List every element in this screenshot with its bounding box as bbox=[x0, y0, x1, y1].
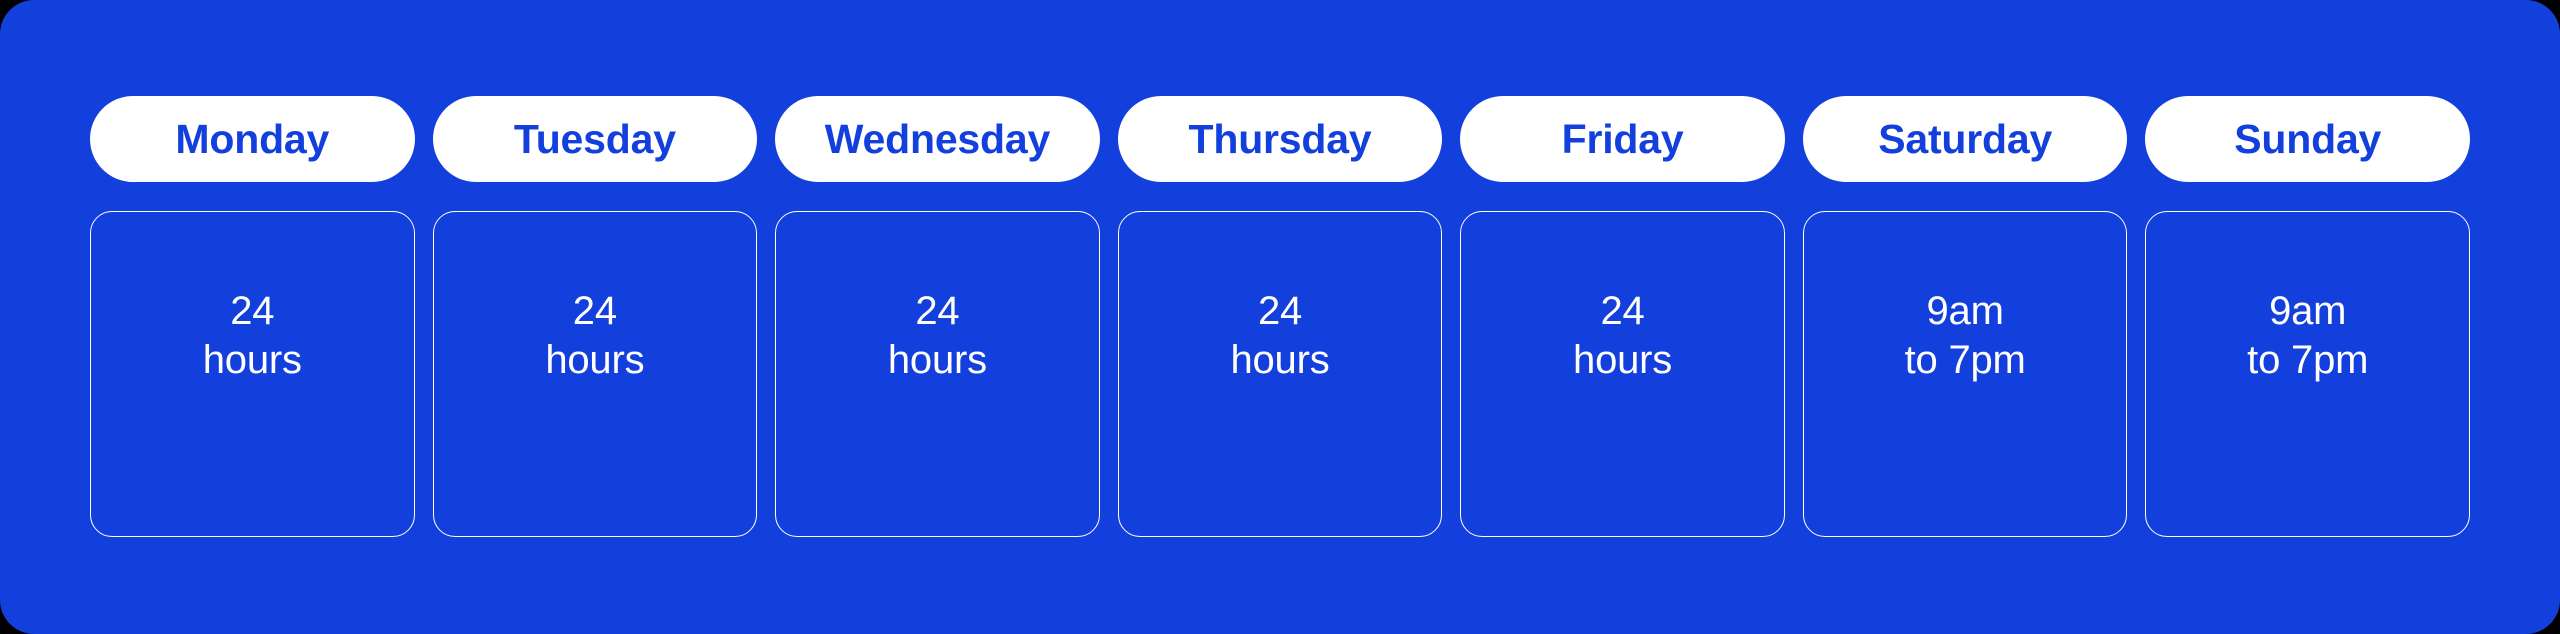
hours-line-secondary: hours bbox=[888, 336, 987, 385]
week-grid: Monday 24 hours Tuesday 24 hours Wednesd… bbox=[90, 96, 2470, 537]
day-column-monday: Monday 24 hours bbox=[90, 96, 415, 537]
hours-line-primary: 24 bbox=[1258, 287, 1302, 336]
day-name-label: Sunday bbox=[2234, 119, 2381, 160]
day-name-label: Monday bbox=[175, 119, 329, 160]
hours-line-primary: 24 bbox=[915, 287, 959, 336]
hours-card-wednesday: 24 hours bbox=[775, 211, 1100, 537]
hours-card-saturday: 9am to 7pm bbox=[1803, 211, 2128, 537]
day-pill-sunday[interactable]: Sunday bbox=[2145, 96, 2470, 182]
hours-line-secondary: hours bbox=[203, 336, 302, 385]
day-pill-monday[interactable]: Monday bbox=[90, 96, 415, 182]
hours-card-friday: 24 hours bbox=[1460, 211, 1785, 537]
day-column-thursday: Thursday 24 hours bbox=[1118, 96, 1443, 537]
day-name-label: Friday bbox=[1562, 119, 1684, 160]
hours-card-monday: 24 hours bbox=[90, 211, 415, 537]
day-pill-wednesday[interactable]: Wednesday bbox=[775, 96, 1100, 182]
hours-line-primary: 24 bbox=[1601, 287, 1645, 336]
day-column-wednesday: Wednesday 24 hours bbox=[775, 96, 1100, 537]
hours-card-sunday: 9am to 7pm bbox=[2145, 211, 2470, 537]
day-column-sunday: Sunday 9am to 7pm bbox=[2145, 96, 2470, 537]
day-name-label: Wednesday bbox=[825, 119, 1050, 160]
hours-line-primary: 24 bbox=[573, 287, 617, 336]
hours-line-primary: 9am bbox=[1927, 287, 2004, 336]
hours-card-tuesday: 24 hours bbox=[433, 211, 758, 537]
day-name-label: Tuesday bbox=[514, 119, 676, 160]
weekly-hours-panel: Monday 24 hours Tuesday 24 hours Wednesd… bbox=[0, 0, 2560, 634]
day-pill-saturday[interactable]: Saturday bbox=[1803, 96, 2128, 182]
hours-line-secondary: to 7pm bbox=[2247, 336, 2368, 385]
day-pill-friday[interactable]: Friday bbox=[1460, 96, 1785, 182]
hours-line-secondary: hours bbox=[1230, 336, 1329, 385]
day-name-label: Saturday bbox=[1878, 119, 2052, 160]
hours-line-primary: 24 bbox=[230, 287, 274, 336]
day-column-friday: Friday 24 hours bbox=[1460, 96, 1785, 537]
hours-line-secondary: hours bbox=[545, 336, 644, 385]
day-name-label: Thursday bbox=[1189, 119, 1372, 160]
hours-card-thursday: 24 hours bbox=[1118, 211, 1443, 537]
day-column-saturday: Saturday 9am to 7pm bbox=[1803, 96, 2128, 537]
day-column-tuesday: Tuesday 24 hours bbox=[433, 96, 758, 537]
hours-line-secondary: hours bbox=[1573, 336, 1672, 385]
hours-line-primary: 9am bbox=[2269, 287, 2346, 336]
day-pill-tuesday[interactable]: Tuesday bbox=[433, 96, 758, 182]
day-pill-thursday[interactable]: Thursday bbox=[1118, 96, 1443, 182]
hours-line-secondary: to 7pm bbox=[1905, 336, 2026, 385]
